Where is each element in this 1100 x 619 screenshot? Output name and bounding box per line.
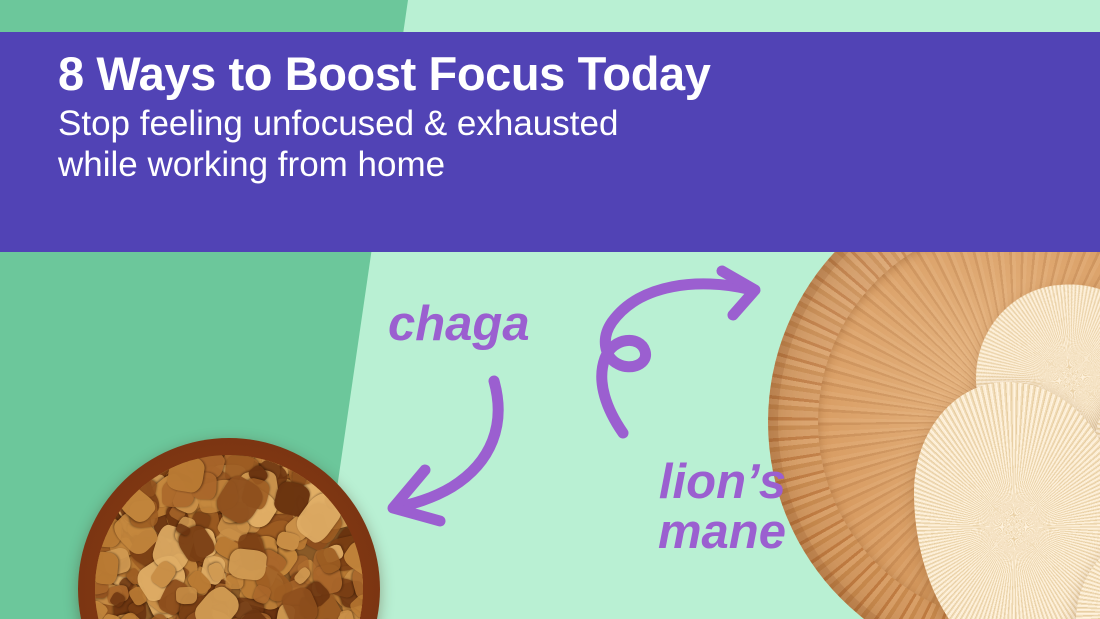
subtitle-line-2: while working from home — [58, 144, 958, 185]
chaga-bowl — [78, 438, 380, 619]
page-title: 8 Ways to Boost Focus Today — [58, 50, 958, 97]
chaga-bowl-interior — [95, 455, 364, 619]
plate-inner-rim — [818, 222, 1100, 619]
lions-mane-label-line-1: lion’s — [586, 458, 786, 508]
subtitle-line-1: Stop feeling unfocused & exhausted — [58, 103, 958, 144]
headline-text-block: 8 Ways to Boost Focus Today Stop feeling… — [58, 50, 958, 186]
promo-banner-graphic: 8 Ways to Boost Focus Today Stop feeling… — [0, 0, 1100, 619]
chaga-chunks — [95, 455, 364, 619]
chaga-label: chaga — [388, 300, 530, 350]
lions-mane-label-line-2: mane — [586, 508, 786, 558]
page-subtitle: Stop feeling unfocused & exhausted while… — [58, 103, 958, 186]
lions-mane-label: lion’s mane — [586, 458, 786, 558]
lions-mane-cluster — [914, 382, 1100, 619]
headline-banner: 8 Ways to Boost Focus Today Stop feeling… — [0, 32, 1100, 252]
